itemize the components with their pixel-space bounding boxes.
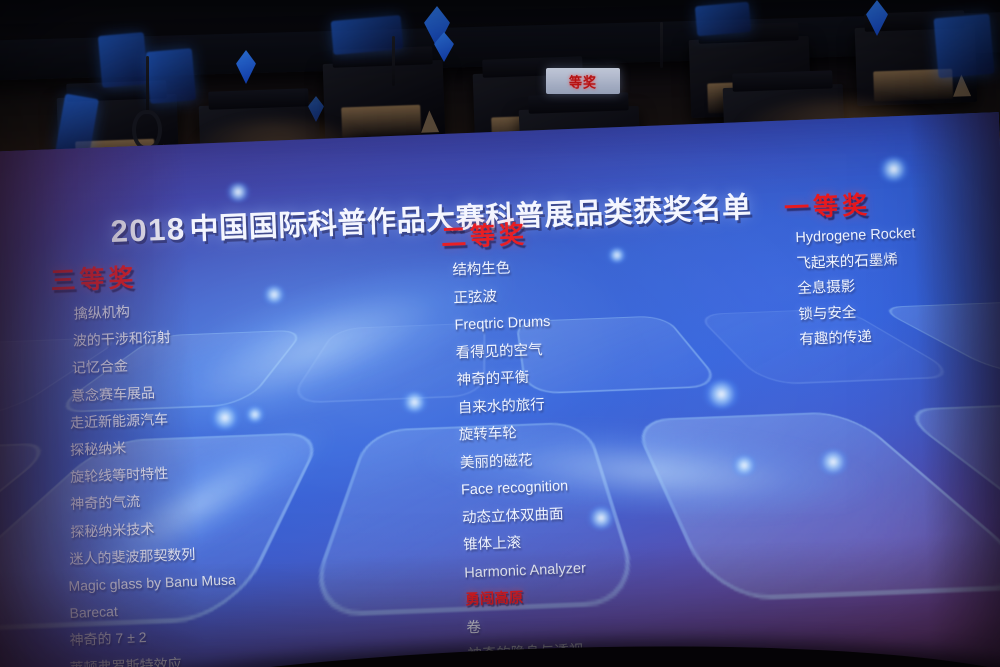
page-title: 2018中国国际科普作品大赛科普展品类获奖名单 (110, 184, 753, 251)
hanging-cable (392, 36, 395, 86)
overhead-award-sign: 等奖 (546, 68, 620, 94)
award-list-second-prize: 结构生色 正弦波 Freqtric Drums 看得见的空气 神奇的平衡 自来水… (452, 253, 590, 667)
award-item: 有趣的传递 (799, 323, 920, 353)
award-heading-third-prize: 三等奖 (50, 258, 138, 297)
award-item: Harmonic Analyzer (464, 555, 587, 587)
award-item: Hydrogene Rocket (795, 221, 916, 251)
award-heading-first-prize: 一等奖 (783, 185, 871, 224)
award-list-first-prize: Hydrogene Rocket 飞起来的石墨烯 全息摄影 锁与安全 有趣的传递 (795, 221, 920, 353)
award-item: 神奇的隐身与透视 (467, 638, 590, 667)
award-list-third-prize: 擒纵机构 波的干涉和衍射 记忆合金 意念赛车展品 走近新能源汽车 探秘纳米 旋轮… (55, 295, 242, 667)
led-screen: 2018中国国际科普作品大赛科普展品类获奖名单 一等奖 Hydrogene Ro… (0, 112, 1000, 667)
stage-light-fixture (323, 60, 446, 142)
overhead-award-sign-text: 等奖 (569, 71, 597, 92)
blue-screen-panel (695, 2, 751, 37)
blue-screen-panel (933, 14, 994, 79)
blue-screen-panel (146, 48, 196, 104)
stage-photo: 等奖 (0, 0, 1000, 667)
blue-screen-panel (98, 32, 148, 88)
hanging-cable (146, 56, 149, 112)
hanging-cable (660, 22, 663, 68)
award-item: Face recognition (461, 473, 584, 505)
award-heading-second-prize: 二等奖 (440, 215, 528, 254)
title-year: 2018 (110, 211, 186, 249)
cable-hoop-icon (132, 110, 162, 150)
screen-content: 2018中国国际科普作品大赛科普展品类获奖名单 一等奖 Hydrogene Ro… (0, 112, 1000, 667)
